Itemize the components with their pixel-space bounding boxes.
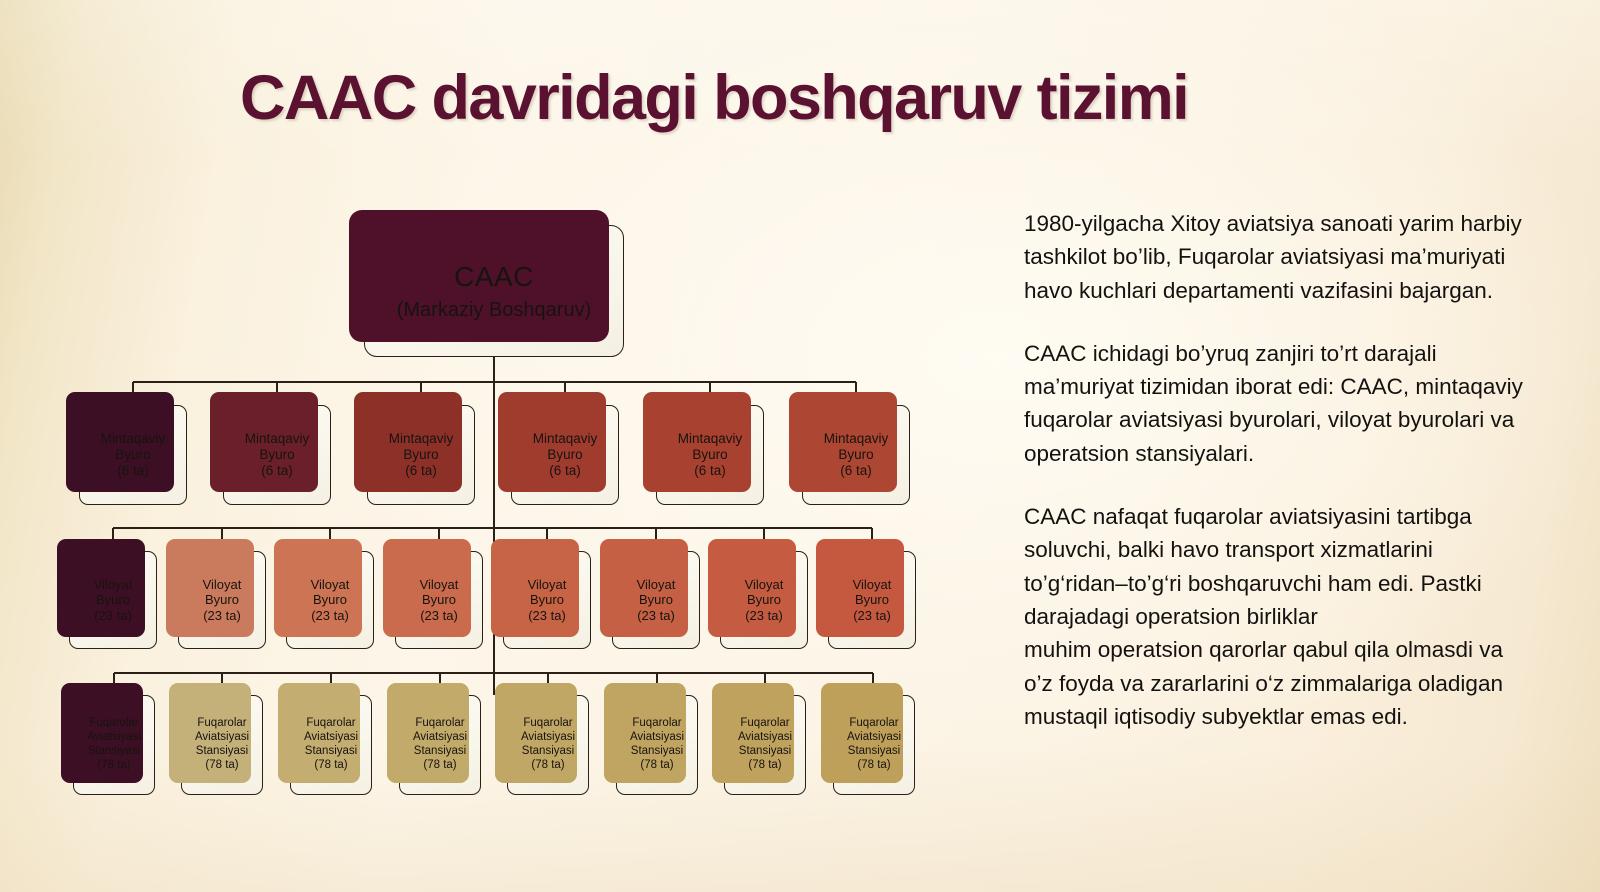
description-column: 1980-yilgacha Xitoy aviatsiya sanoati ya… <box>1024 207 1524 733</box>
node-viloyat-byuro-8[interactable]: Viloyat Byuro (23 ta) <box>828 551 916 649</box>
node-label-count: (6 ta) <box>694 463 726 479</box>
node-fuqarolar-stansiyasi-3[interactable]: Fuqarolar Aviatsiyasi Stansiyasi (78 ta) <box>290 695 372 795</box>
node-label-count: (6 ta) <box>405 463 437 479</box>
node-label-primary: Fuqarolar <box>523 717 572 731</box>
node-label-count: (23 ta) <box>420 608 458 624</box>
node-label-primary: Mintaqaviy <box>389 431 454 447</box>
node-mintaqaviy-byuro-4[interactable]: Mintaqaviy Byuro (6 ta) <box>511 405 619 505</box>
node-viloyat-byuro-3[interactable]: Viloyat Byuro (23 ta) <box>286 551 374 649</box>
node-fuqarolar-stansiyasi-6[interactable]: Fuqarolar Aviatsiyasi Stansiyasi (78 ta) <box>616 695 698 795</box>
node-label-count: (78 ta) <box>748 759 781 773</box>
node-caac-root[interactable]: CAAC (Markaziy Boshqaruv) <box>364 225 624 357</box>
node-viloyat-byuro-4[interactable]: Viloyat Byuro (23 ta) <box>395 551 483 649</box>
node-label-primary: Viloyat <box>311 577 350 593</box>
node-mintaqaviy-byuro-3[interactable]: Mintaqaviy Byuro (6 ta) <box>367 405 475 505</box>
node-label-count: (78 ta) <box>314 759 347 773</box>
node-label-primary: Viloyat <box>94 577 133 593</box>
node-label-secondary: Byuro <box>96 592 130 608</box>
node-label-primary: Viloyat <box>420 577 459 593</box>
node-label-primary: Fuqarolar <box>849 717 898 731</box>
node-label-tertiary: Stansiyasi <box>305 745 357 759</box>
node-viloyat-byuro-5[interactable]: Viloyat Byuro (23 ta) <box>503 551 591 649</box>
node-label-secondary: Aviatsiyasi <box>87 731 141 745</box>
node-label-secondary: Byuro <box>403 447 438 463</box>
node-label-primary: Viloyat <box>528 577 567 593</box>
node-label-secondary: Aviatsiyasi <box>413 731 467 745</box>
node-label-primary: Mintaqaviy <box>101 431 166 447</box>
node-mintaqaviy-byuro-2[interactable]: Mintaqaviy Byuro (6 ta) <box>223 405 331 505</box>
node-label-secondary: Aviatsiyasi <box>847 731 901 745</box>
node-fuqarolar-stansiyasi-5[interactable]: Fuqarolar Aviatsiyasi Stansiyasi (78 ta) <box>507 695 589 795</box>
node-label-primary: Viloyat <box>853 577 892 593</box>
node-label-tertiary: Stansiyasi <box>196 745 248 759</box>
node-label-count: (78 ta) <box>640 759 673 773</box>
node-mintaqaviy-byuro-1[interactable]: Mintaqaviy Byuro (6 ta) <box>79 405 187 505</box>
node-label-secondary: Byuro <box>259 447 294 463</box>
node-label-primary: Fuqarolar <box>89 717 138 731</box>
node-label-secondary: Aviatsiyasi <box>304 731 358 745</box>
node-label-primary: Mintaqaviy <box>533 431 598 447</box>
node-label-primary: CAAC <box>454 260 534 294</box>
node-label-count: (78 ta) <box>205 759 238 773</box>
node-label-secondary: Byuro <box>692 447 727 463</box>
node-label-secondary: Byuro <box>422 592 456 608</box>
node-mintaqaviy-byuro-5[interactable]: Mintaqaviy Byuro (6 ta) <box>656 405 764 505</box>
node-label-secondary: Aviatsiyasi <box>738 731 792 745</box>
node-label-secondary: Byuro <box>313 592 347 608</box>
node-label-secondary: Byuro <box>747 592 781 608</box>
node-label-primary: Mintaqaviy <box>245 431 310 447</box>
node-label-count: (78 ta) <box>531 759 564 773</box>
node-fuqarolar-stansiyasi-7[interactable]: Fuqarolar Aviatsiyasi Stansiyasi (78 ta) <box>724 695 806 795</box>
node-fuqarolar-stansiyasi-1[interactable]: Fuqarolar Aviatsiyasi Stansiyasi (78 ta) <box>73 695 155 795</box>
node-label-count: (78 ta) <box>857 759 890 773</box>
node-label-secondary: Byuro <box>855 592 889 608</box>
infographic-page: CAAC davridagi boshqaruv tizimi <box>0 0 1600 892</box>
node-label-secondary: Byuro <box>547 447 582 463</box>
node-label-secondary: (Markaziy Boshqaruv) <box>397 298 592 322</box>
node-label-count: (23 ta) <box>203 608 241 624</box>
node-label-secondary: Aviatsiyasi <box>630 731 684 745</box>
node-mintaqaviy-byuro-6[interactable]: Mintaqaviy Byuro (6 ta) <box>802 405 910 505</box>
node-label-secondary: Byuro <box>115 447 150 463</box>
node-label-count: (23 ta) <box>528 608 566 624</box>
node-label-primary: Mintaqaviy <box>678 431 743 447</box>
node-label-secondary: Aviatsiyasi <box>195 731 249 745</box>
node-label-count: (6 ta) <box>261 463 293 479</box>
node-label-count: (6 ta) <box>840 463 872 479</box>
node-label-count: (78 ta) <box>97 759 130 773</box>
node-label-tertiary: Stansiyasi <box>414 745 466 759</box>
node-label-primary: Fuqarolar <box>306 717 355 731</box>
node-label-count: (23 ta) <box>637 608 675 624</box>
node-viloyat-byuro-6[interactable]: Viloyat Byuro (23 ta) <box>612 551 700 649</box>
node-label-secondary: Byuro <box>838 447 873 463</box>
node-label-count: (78 ta) <box>423 759 456 773</box>
node-viloyat-byuro-1[interactable]: Viloyat Byuro (23 ta) <box>69 551 157 649</box>
node-label-count: (6 ta) <box>549 463 581 479</box>
node-label-tertiary: Stansiyasi <box>631 745 683 759</box>
node-label-primary: Fuqarolar <box>740 717 789 731</box>
description-paragraph-2: CAAC ichidagi bo’yruq zanjiri to’rt dara… <box>1024 337 1524 470</box>
node-label-primary: Mintaqaviy <box>824 431 889 447</box>
node-fuqarolar-stansiyasi-2[interactable]: Fuqarolar Aviatsiyasi Stansiyasi (78 ta) <box>181 695 263 795</box>
node-label-primary: Fuqarolar <box>632 717 681 731</box>
node-label-secondary: Byuro <box>530 592 564 608</box>
node-label-count: (23 ta) <box>311 608 349 624</box>
node-label-secondary: Byuro <box>205 592 239 608</box>
node-label-count: (6 ta) <box>117 463 149 479</box>
org-chart: CAAC (Markaziy Boshqaruv) Mintaqaviy Byu… <box>0 0 980 892</box>
node-label-primary: Viloyat <box>745 577 784 593</box>
node-fuqarolar-stansiyasi-4[interactable]: Fuqarolar Aviatsiyasi Stansiyasi (78 ta) <box>399 695 481 795</box>
node-label-primary: Fuqarolar <box>197 717 246 731</box>
node-label-tertiary: Stansiyasi <box>88 745 140 759</box>
node-label-count: (23 ta) <box>853 608 891 624</box>
node-label-primary: Viloyat <box>203 577 242 593</box>
node-label-secondary: Aviatsiyasi <box>521 731 575 745</box>
node-label-count: (23 ta) <box>745 608 783 624</box>
node-viloyat-byuro-7[interactable]: Viloyat Byuro (23 ta) <box>720 551 808 649</box>
node-label-tertiary: Stansiyasi <box>522 745 574 759</box>
node-label-count: (23 ta) <box>94 608 132 624</box>
node-label-tertiary: Stansiyasi <box>739 745 791 759</box>
description-paragraph-3: CAAC nafaqat fuqarolar aviatsiyasini tar… <box>1024 500 1524 733</box>
node-label-primary: Viloyat <box>637 577 676 593</box>
node-viloyat-byuro-2[interactable]: Viloyat Byuro (23 ta) <box>178 551 266 649</box>
description-paragraph-1: 1980-yilgacha Xitoy aviatsiya sanoati ya… <box>1024 207 1524 307</box>
node-label-secondary: Byuro <box>639 592 673 608</box>
node-label-tertiary: Stansiyasi <box>848 745 900 759</box>
node-label-primary: Fuqarolar <box>415 717 464 731</box>
node-fuqarolar-stansiyasi-8[interactable]: Fuqarolar Aviatsiyasi Stansiyasi (78 ta) <box>833 695 915 795</box>
